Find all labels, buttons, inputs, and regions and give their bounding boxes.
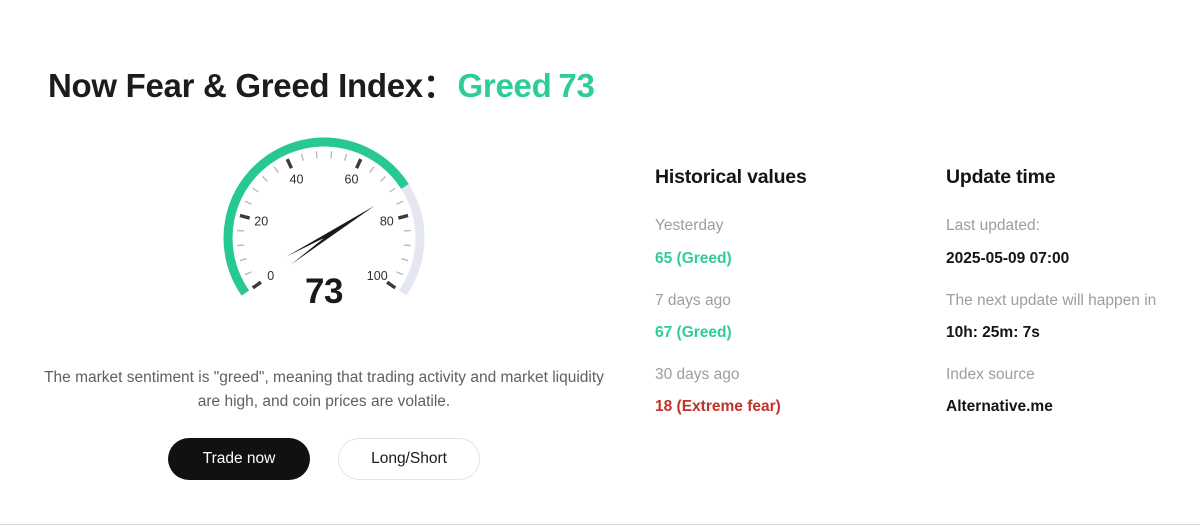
gauge-minor-tick (301, 154, 303, 161)
action-button-row: Trade now Long/Short (0, 438, 648, 480)
gauge-minor-tick (262, 176, 267, 181)
gauge-minor-tick (345, 154, 347, 161)
bottom-divider (0, 524, 1200, 525)
gauge-minor-tick (401, 259, 408, 261)
gauge-tick-label: 80 (380, 215, 394, 229)
gauge-major-tick (253, 282, 261, 288)
gauge-minor-tick (404, 245, 411, 246)
page-title-separator: ： (423, 67, 456, 104)
gauge-major-tick (357, 159, 361, 168)
historical-values-title: Historical values (655, 166, 935, 189)
gauge-minor-tick (397, 201, 403, 204)
list-item-value: 18 (Extreme fear) (655, 398, 935, 417)
gauge-tick-label: 20 (254, 215, 268, 229)
list-item-label: Last updated: (946, 217, 1196, 236)
gauge-minor-tick (390, 188, 396, 192)
gauge-tick-label: 100 (367, 269, 388, 283)
long-short-button[interactable]: Long/Short (338, 438, 480, 480)
gauge-minor-tick (316, 151, 317, 158)
gauge-minor-tick (237, 245, 244, 246)
gauge-minor-tick (245, 272, 251, 275)
gauge-minor-tick (370, 167, 374, 173)
trade-now-button[interactable]: Trade now (168, 438, 310, 480)
list-item-value: Alternative.me (946, 398, 1196, 417)
gauge-major-tick (387, 282, 395, 288)
page-title-verdict: Greed (458, 67, 552, 104)
gauge-needle (286, 206, 374, 265)
gauge-tick-label: 40 (290, 173, 304, 187)
gauge-tick-label: 0 (267, 269, 274, 283)
gauge-minor-tick (253, 188, 259, 192)
page-title-score: 73 (558, 67, 594, 104)
list-item-value: 10h: 25m: 7s (946, 324, 1196, 343)
gauge-tick-labels: 020406080100 (254, 173, 394, 283)
gauge-svg: 020406080100 (214, 130, 434, 338)
update-rows: Last updated: 2025-05-09 07:00 The next … (946, 217, 1196, 417)
gauge-minor-tick (237, 230, 244, 231)
list-item-label: The next update will happen in (946, 292, 1196, 311)
gauge-minor-tick (397, 272, 403, 275)
sentiment-description: The market sentiment is "greed", meaning… (34, 366, 614, 414)
historical-rows: Yesterday 65 (Greed) 7 days ago 67 (Gree… (655, 217, 935, 417)
gauge-minor-tick (245, 201, 251, 204)
update-time-title: Update time (946, 166, 1196, 189)
list-item-value: 2025-05-09 07:00 (946, 250, 1196, 269)
fear-greed-gauge: 020406080100 73 (214, 130, 434, 338)
list-item-label: Yesterday (655, 217, 935, 236)
gauge-minor-tick (240, 259, 247, 261)
list-item-value: 65 (Greed) (655, 250, 935, 269)
page-title-prefix: Now Fear & Greed Index (48, 67, 423, 104)
list-item-label: 7 days ago (655, 292, 935, 311)
gauge-major-tick (398, 215, 408, 218)
gauge-major-tick (240, 215, 250, 218)
gauge-minor-tick (404, 230, 411, 231)
gauge-major-tick (287, 159, 291, 168)
page-title: Now Fear & Greed Index：Greed73 (48, 66, 595, 106)
historical-values-column: Historical values Yesterday 65 (Greed) 7… (655, 166, 935, 417)
gauge-minor-tick (331, 151, 332, 158)
gauge-panel: 020406080100 73 The market sentiment is … (0, 130, 648, 480)
gauge-minor-tick (274, 167, 278, 173)
list-item-label: Index source (946, 366, 1196, 385)
gauge-minor-tick (381, 176, 386, 181)
gauge-needle-pointer (286, 206, 374, 265)
list-item-label: 30 days ago (655, 366, 935, 385)
gauge-tick-label: 60 (345, 173, 359, 187)
update-time-column: Update time Last updated: 2025-05-09 07:… (946, 166, 1196, 417)
fear-greed-index-page: { "header": { "prefix": "Now Fear & Gree… (0, 0, 1200, 527)
list-item-value: 67 (Greed) (655, 324, 935, 343)
